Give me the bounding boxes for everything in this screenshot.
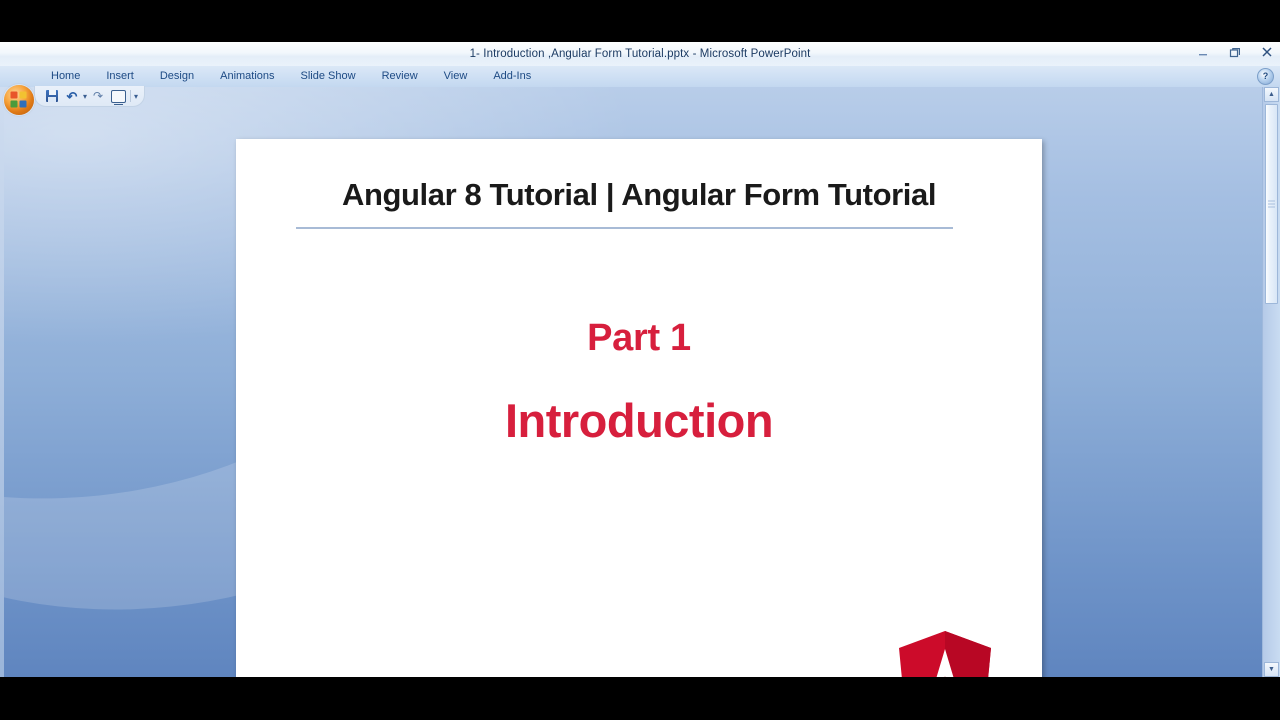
- tab-review[interactable]: Review: [369, 66, 431, 87]
- workspace-left-edge: [0, 87, 4, 677]
- tab-design[interactable]: Design: [147, 66, 207, 87]
- close-button[interactable]: [1260, 46, 1274, 62]
- angular-logo-icon: [896, 629, 994, 677]
- toolbar-divider: [130, 90, 131, 102]
- slide-part-label: Part 1: [236, 317, 1042, 360]
- tab-insert[interactable]: Insert: [93, 66, 147, 87]
- letterbox-top-bar: [0, 0, 1280, 42]
- redo-icon: ↷: [93, 90, 103, 102]
- powerpoint-window: 1- Introduction ,Angular Form Tutorial.p…: [0, 42, 1280, 677]
- slide-subject-label: Introduction: [236, 393, 1042, 448]
- print-preview-icon: [111, 90, 126, 103]
- minimize-icon: [1197, 48, 1209, 58]
- scroll-up-button[interactable]: ▲: [1264, 87, 1279, 102]
- customize-toolbar-button[interactable]: ▾: [134, 92, 138, 101]
- restore-icon: [1229, 47, 1241, 58]
- slide-workspace: ▲ ▼ Angular 8 Tutorial | Angular Form Tu…: [0, 87, 1280, 677]
- scrollbar-thumb[interactable]: [1265, 104, 1278, 304]
- save-button[interactable]: [43, 88, 61, 105]
- scroll-down-button[interactable]: ▼: [1264, 662, 1279, 677]
- tab-animations[interactable]: Animations: [207, 66, 287, 87]
- vertical-scrollbar[interactable]: ▲ ▼: [1262, 87, 1280, 677]
- office-logo-icon: [11, 92, 28, 109]
- quick-access-toolbar: ↶ ▾ ↷ ▾: [34, 86, 145, 107]
- save-icon: [46, 90, 58, 102]
- letterbox-bottom-bar: [0, 677, 1280, 720]
- scrollbar-grip-icon: [1268, 201, 1275, 208]
- close-icon: [1261, 46, 1273, 58]
- tab-home[interactable]: Home: [38, 66, 93, 87]
- tab-slide-show[interactable]: Slide Show: [288, 66, 369, 87]
- screen: 1- Introduction ,Angular Form Tutorial.p…: [0, 0, 1280, 720]
- office-button[interactable]: [4, 85, 34, 115]
- help-icon[interactable]: ?: [1257, 68, 1274, 85]
- minimize-button[interactable]: [1196, 48, 1210, 60]
- window-controls: [1196, 42, 1274, 66]
- undo-button[interactable]: ↶: [63, 88, 81, 105]
- tab-add-ins[interactable]: Add-Ins: [480, 66, 544, 87]
- ribbon-tabs: Home Insert Design Animations Slide Show…: [38, 66, 544, 87]
- undo-icon: ↶: [67, 90, 78, 103]
- slide-canvas[interactable]: Angular 8 Tutorial | Angular Form Tutori…: [236, 139, 1042, 677]
- print-preview-button[interactable]: [109, 88, 127, 105]
- slide-title: Angular 8 Tutorial | Angular Form Tutori…: [294, 177, 984, 213]
- restore-button[interactable]: [1228, 46, 1242, 62]
- slide-title-underline: [296, 227, 953, 229]
- tab-view[interactable]: View: [431, 66, 481, 87]
- redo-button[interactable]: ↷: [89, 88, 107, 105]
- undo-dropdown-button[interactable]: ▾: [83, 92, 87, 101]
